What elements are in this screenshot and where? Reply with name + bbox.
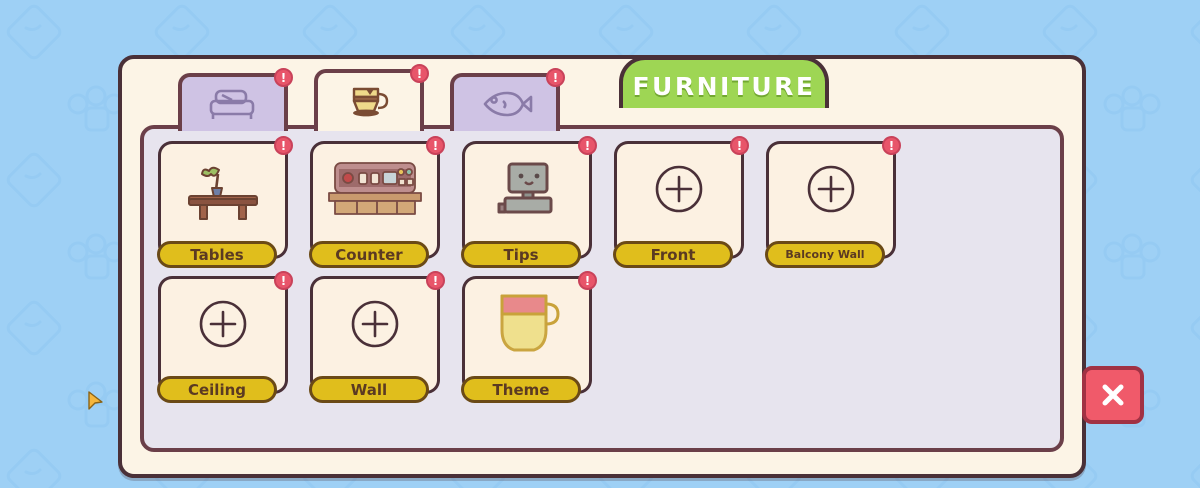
item-card-balcony-wall[interactable]: ! Balcony Wall — [766, 141, 896, 259]
item-label-pill: Theme — [461, 376, 581, 403]
item-card-wall[interactable]: ! Wall — [310, 276, 440, 394]
bed-icon — [206, 85, 260, 123]
tab-badge: ! — [274, 68, 293, 87]
item-label: Balcony Wall — [785, 248, 864, 261]
item-label-pill: Front — [613, 241, 733, 268]
furniture-board: ! Tables — [140, 125, 1064, 452]
item-badge: ! — [730, 136, 749, 155]
item-label: Tips — [503, 246, 538, 264]
furniture-panel: FURNITURE ! — [118, 55, 1086, 478]
item-badge: ! — [426, 271, 445, 290]
tab-cup[interactable]: ! — [314, 69, 424, 131]
item-badge: ! — [274, 271, 293, 290]
item-label-pill: Balcony Wall — [765, 241, 885, 268]
fish-icon — [477, 87, 533, 121]
item-label: Front — [651, 246, 696, 264]
item-label-pill: Ceiling — [157, 376, 277, 403]
game-screen: FURNITURE ! — [0, 0, 1200, 488]
item-card-tips[interactable]: ! Tips — [462, 141, 592, 259]
item-badge: ! — [578, 271, 597, 290]
tab-bed[interactable]: ! — [178, 73, 288, 131]
furniture-grid: ! Tables — [158, 141, 1046, 394]
table-with-plant-icon — [161, 144, 285, 234]
close-button[interactable] — [1082, 366, 1144, 424]
tab-badge: ! — [410, 64, 429, 83]
retro-computer-icon — [465, 144, 589, 234]
item-label: Theme — [493, 381, 550, 399]
item-label-pill: Wall — [309, 376, 429, 403]
item-badge: ! — [274, 136, 293, 155]
item-label: Ceiling — [188, 381, 246, 399]
plus-circle-icon — [617, 144, 741, 234]
item-card-front[interactable]: ! Front — [614, 141, 744, 259]
plus-circle-icon — [313, 279, 437, 369]
cafe-counter-icon — [313, 144, 437, 234]
item-badge: ! — [882, 136, 901, 155]
item-badge: ! — [426, 136, 445, 155]
item-card-counter[interactable]: ! Counter — [310, 141, 440, 259]
category-tabs: ! ! — [178, 73, 560, 131]
plus-circle-icon — [769, 144, 893, 234]
item-label: Wall — [351, 381, 387, 399]
page-title: FURNITURE — [632, 72, 815, 101]
item-label-pill: Tips — [461, 241, 581, 268]
item-card-tables[interactable]: ! Tables — [158, 141, 288, 259]
panel-title-banner: FURNITURE — [619, 56, 829, 108]
tab-fish[interactable]: ! — [450, 73, 560, 131]
tab-badge: ! — [546, 68, 565, 87]
x-icon — [1098, 380, 1128, 410]
item-label: Tables — [190, 246, 243, 264]
item-card-theme[interactable]: ! Theme — [462, 276, 592, 394]
item-card-ceiling[interactable]: ! Ceiling — [158, 276, 288, 394]
mouse-cursor — [86, 390, 106, 414]
item-label-pill: Tables — [157, 241, 277, 268]
mug-icon — [465, 279, 589, 369]
plus-circle-icon — [161, 279, 285, 369]
item-label-pill: Counter — [309, 241, 429, 268]
item-label: Counter — [335, 246, 402, 264]
cup-icon — [343, 81, 395, 123]
item-badge: ! — [578, 136, 597, 155]
